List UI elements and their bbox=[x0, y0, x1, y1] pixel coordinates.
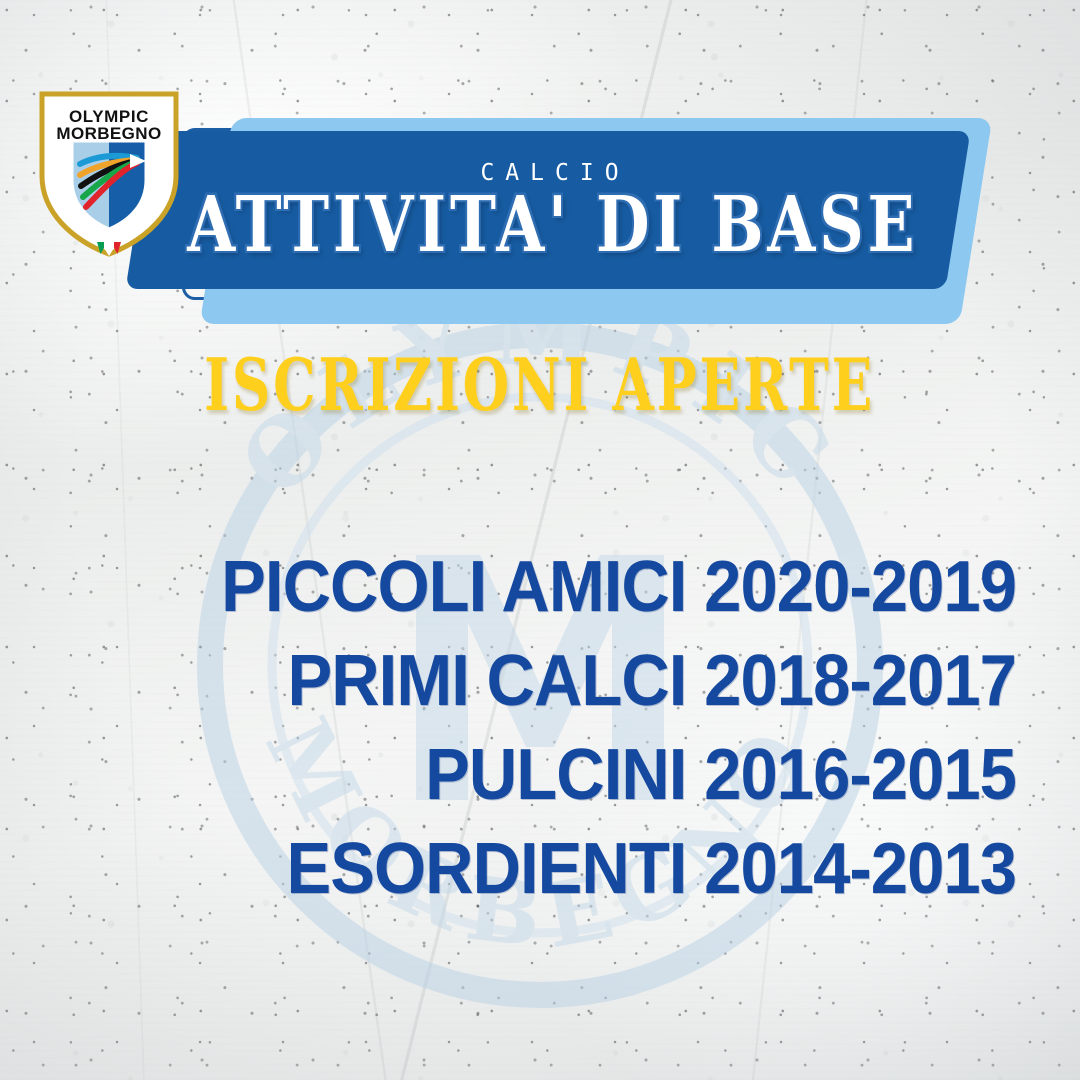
category-row: ESORDIENTI 2014-2013 bbox=[71, 822, 1016, 916]
subhead-text: ISCRIZIONI APERTE bbox=[205, 349, 876, 421]
banner-dark-slab: CALCIO ATTIVITA' DI BASE bbox=[125, 131, 970, 289]
category-row: PICCOLI AMICI 2020-2019 bbox=[71, 540, 1016, 634]
category-list: PICCOLI AMICI 2020-2019 PRIMI CALCI 2018… bbox=[0, 540, 1080, 916]
header-banner: CALCIO ATTIVITA' DI BASE OLYMPIC bbox=[0, 0, 1080, 340]
poster-canvas: OLYMPIC MORBEGNO CALCIO ATTIVITA' DI BAS… bbox=[0, 0, 1080, 1080]
banner-title: ATTIVITA' DI BASE bbox=[187, 187, 918, 264]
category-row: PRIMI CALCI 2018-2017 bbox=[71, 634, 1016, 728]
club-crest: OLYMPIC MORBEGNO bbox=[34, 84, 184, 262]
italian-flag-chevron bbox=[97, 242, 121, 256]
subhead-block: ISCRIZIONI APERTE bbox=[0, 356, 1080, 414]
category-row: PULCINI 2016-2015 bbox=[71, 728, 1016, 822]
